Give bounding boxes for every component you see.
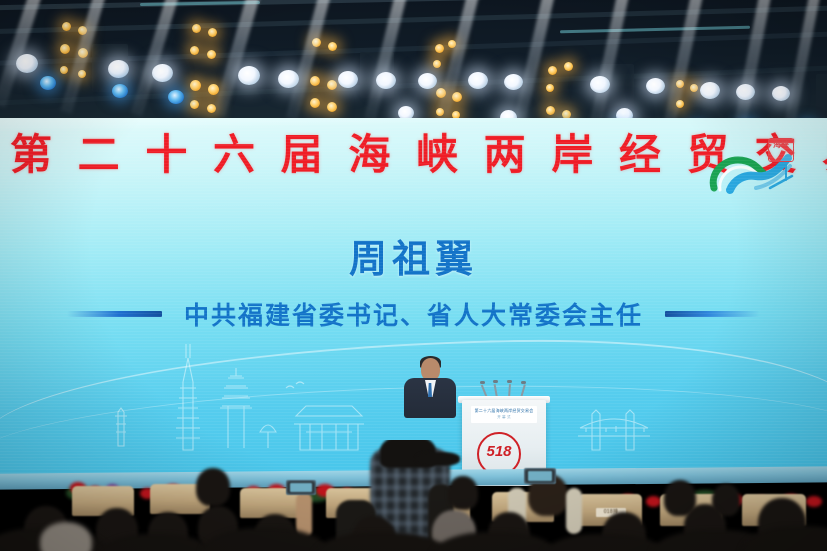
- white-spotlight: [338, 71, 358, 88]
- warm-spotlight: [310, 98, 320, 108]
- audience-silhouette: [740, 526, 827, 551]
- white-spotlight: [468, 72, 488, 89]
- microphone-head: [507, 380, 512, 383]
- microphone-head: [493, 380, 498, 383]
- warm-spotlight: [60, 66, 68, 74]
- cyan-strip-light: [560, 26, 750, 34]
- warm-spotlight: [548, 66, 557, 75]
- decorative-dash-right: [665, 311, 760, 317]
- white-spotlight: [418, 73, 437, 89]
- audience-head-gray: [40, 522, 92, 551]
- light-beam: [663, 0, 706, 129]
- warm-spotlight: [546, 84, 554, 92]
- logo-seal-stamp: 海峡: [768, 138, 794, 162]
- warm-spotlight: [546, 106, 555, 115]
- podium-sign-line1: 第二十六届海峡两岸经贸交易会: [471, 407, 537, 414]
- speaker-role-row: 中共福建省委书记、省人大常委会主任: [0, 296, 827, 332]
- warm-spotlight: [327, 102, 337, 112]
- white-spotlight: [772, 86, 790, 101]
- light-beam: [0, 0, 42, 108]
- led-backdrop-screen: 第 二 十 六 届 海 峡 两 岸 经 贸 交 易 会 海峡 周祖翼 中共福建省…: [0, 118, 827, 478]
- warm-spotlight: [190, 100, 199, 109]
- warm-spotlight: [208, 84, 219, 95]
- white-spotlight: [108, 60, 129, 78]
- warm-spotlight: [327, 80, 337, 90]
- white-spotlight: [700, 82, 720, 99]
- blue-spotlight: [112, 84, 128, 98]
- warm-spotlight: [207, 50, 216, 59]
- microphone-head: [480, 381, 485, 384]
- white-spotlight: [646, 78, 665, 94]
- decorative-dash-left: [67, 311, 162, 317]
- speaker-name: 周祖翼: [0, 228, 827, 283]
- podium-sign: 第二十六届海峡两岸经贸交易会 开 幕 式: [471, 406, 537, 423]
- light-beam: [213, 0, 263, 117]
- white-spotlight: [238, 66, 260, 85]
- microphone-head: [521, 381, 526, 384]
- warm-spotlight: [310, 76, 320, 86]
- smartphone-screen: [290, 483, 312, 492]
- audience-seating: 018排: [0, 440, 827, 551]
- cap-brim: [416, 452, 460, 466]
- audience-head: [196, 468, 230, 506]
- warm-spotlight: [62, 22, 71, 31]
- audience-silhouette: [540, 534, 670, 551]
- photographer-arm: [566, 488, 582, 534]
- ceiling-lighting-rig: [0, 0, 827, 132]
- warm-spotlight: [60, 44, 70, 54]
- warm-spotlight: [328, 42, 337, 51]
- truss-beam: [0, 4, 827, 35]
- warm-spotlight: [690, 84, 698, 92]
- event-logo: 海峡: [700, 136, 810, 206]
- warm-spotlight: [208, 28, 217, 37]
- warm-spotlight: [435, 44, 444, 53]
- blue-spotlight: [168, 90, 184, 104]
- blue-spotlight: [40, 76, 56, 90]
- light-fixture: [816, 74, 827, 118]
- warm-spotlight: [190, 46, 199, 55]
- stage-photo: 第 二 十 六 届 海 峡 两 岸 经 贸 交 易 会 海峡 周祖翼 中共福建省…: [0, 0, 827, 551]
- speaker-role: 中共福建省委书记、省人大常委会主任: [184, 296, 643, 332]
- podium-sign-line2: 开 幕 式: [471, 414, 537, 421]
- warm-spotlight: [190, 80, 201, 91]
- event-title: 第 二 十 六 届 海 峡 两 岸 经 贸 交 易 会: [10, 134, 710, 176]
- warm-spotlight: [433, 60, 441, 68]
- speaker-figure: [404, 358, 456, 416]
- smartphone-screen: [528, 471, 552, 481]
- warm-spotlight: [564, 62, 573, 71]
- light-beam: [733, 0, 773, 130]
- audience-head: [448, 476, 478, 510]
- warm-spotlight: [192, 24, 201, 33]
